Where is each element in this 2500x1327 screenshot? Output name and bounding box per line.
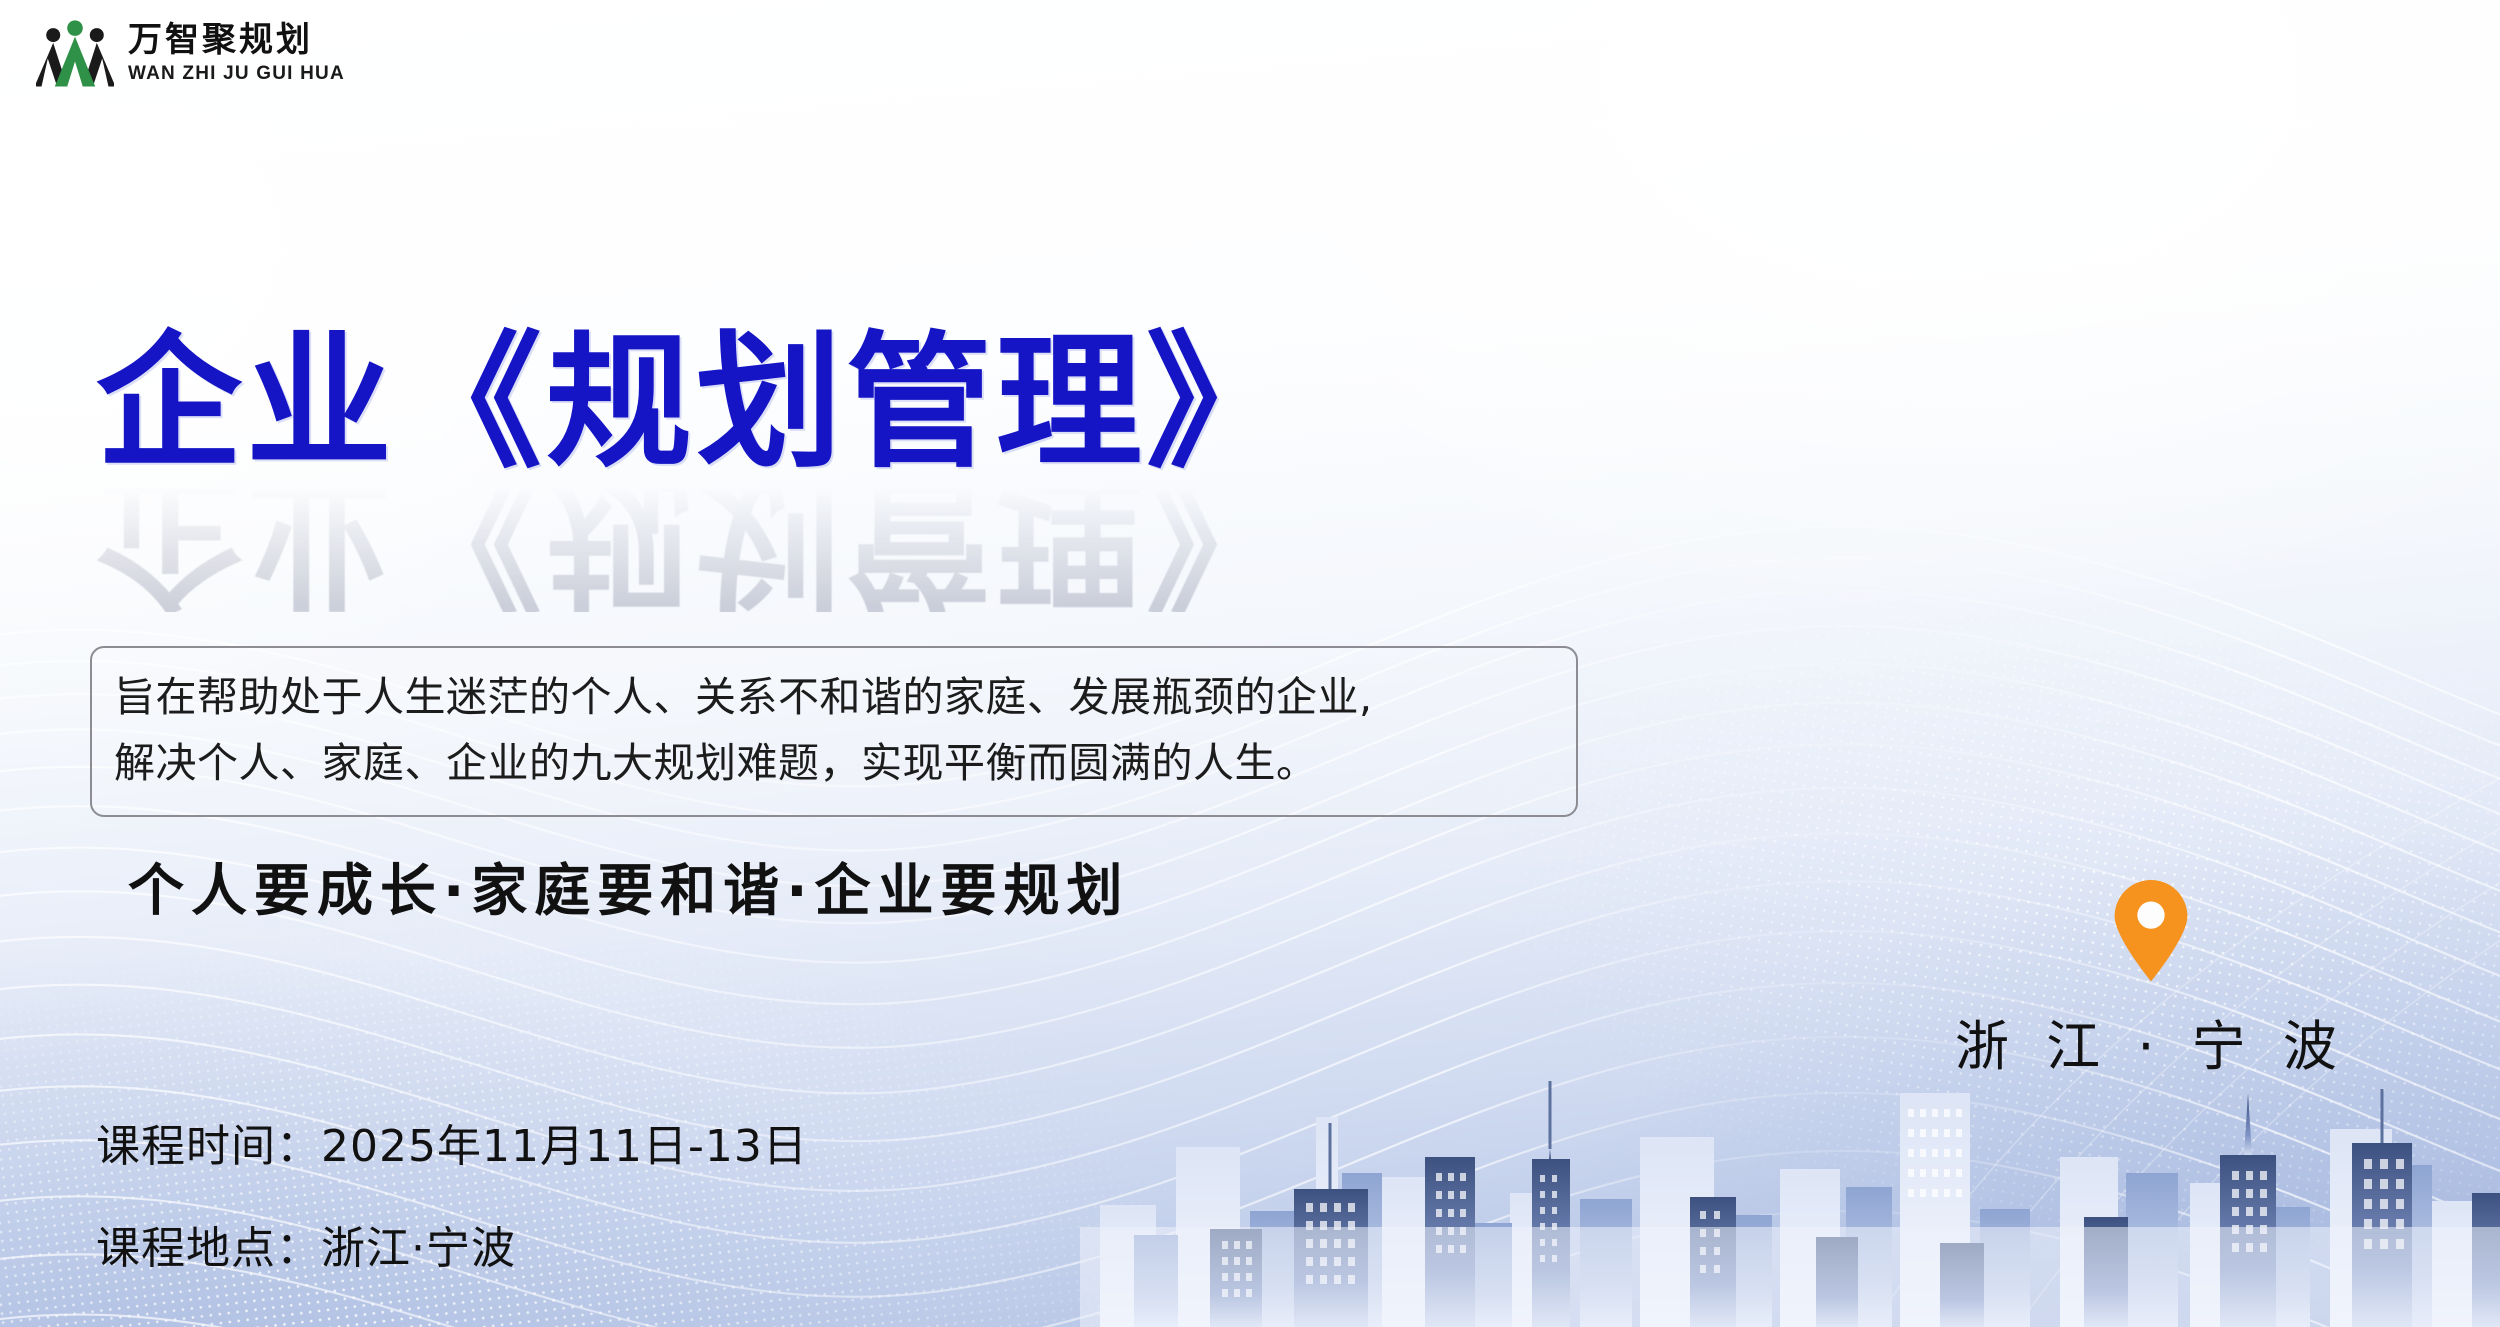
description-box: 旨在帮助处于人生迷茫的个人、关系不和谐的家庭、发展瓶颈的企业, 解决个人、家庭、… xyxy=(90,646,1578,817)
poster-canvas: 万智聚规划 WAN ZHI JU GUI HUA 企业《规划管理》 企业《规划管… xyxy=(0,0,2500,1327)
slogan-text: 个人要成长·家庭要和谐·企业要规划 xyxy=(128,846,1130,927)
course-place: 课程地点：浙江·宁波 xyxy=(96,1212,808,1276)
location-label: 浙 江 · 宁 波 xyxy=(1955,1002,2347,1081)
brand-logo-text: 万智聚规划 WAN ZHI JU GUI HUA xyxy=(128,24,345,83)
page-title-reflection: 企业《规划管理》 xyxy=(96,466,1296,612)
brand-logo[interactable]: 万智聚规划 WAN ZHI JU GUI HUA xyxy=(36,18,345,88)
brand-name-pinyin: WAN ZHI JU GUI HUA xyxy=(128,64,345,83)
three-people-logo-icon xyxy=(36,18,114,88)
course-info-block: 课程时间：2025年11月11日-13日 课程地点：浙江·宁波 xyxy=(96,1110,808,1276)
brand-name-cn: 万智聚规划 xyxy=(128,24,345,58)
course-time: 课程时间：2025年11月11日-13日 xyxy=(96,1110,808,1174)
description-line-2: 解决个人、家庭、企业的九大规划难题，实现平衡而圆满的人生。 xyxy=(114,730,1554,796)
page-title: 企业《规划管理》 xyxy=(96,330,1296,476)
description-line-1: 旨在帮助处于人生迷茫的个人、关系不和谐的家庭、发展瓶颈的企业, xyxy=(114,664,1554,730)
location-block: 浙 江 · 宁 波 xyxy=(1955,880,2347,1081)
map-pin-icon xyxy=(2109,880,2193,984)
headline-block: 企业《规划管理》 企业《规划管理》 xyxy=(96,330,1296,612)
